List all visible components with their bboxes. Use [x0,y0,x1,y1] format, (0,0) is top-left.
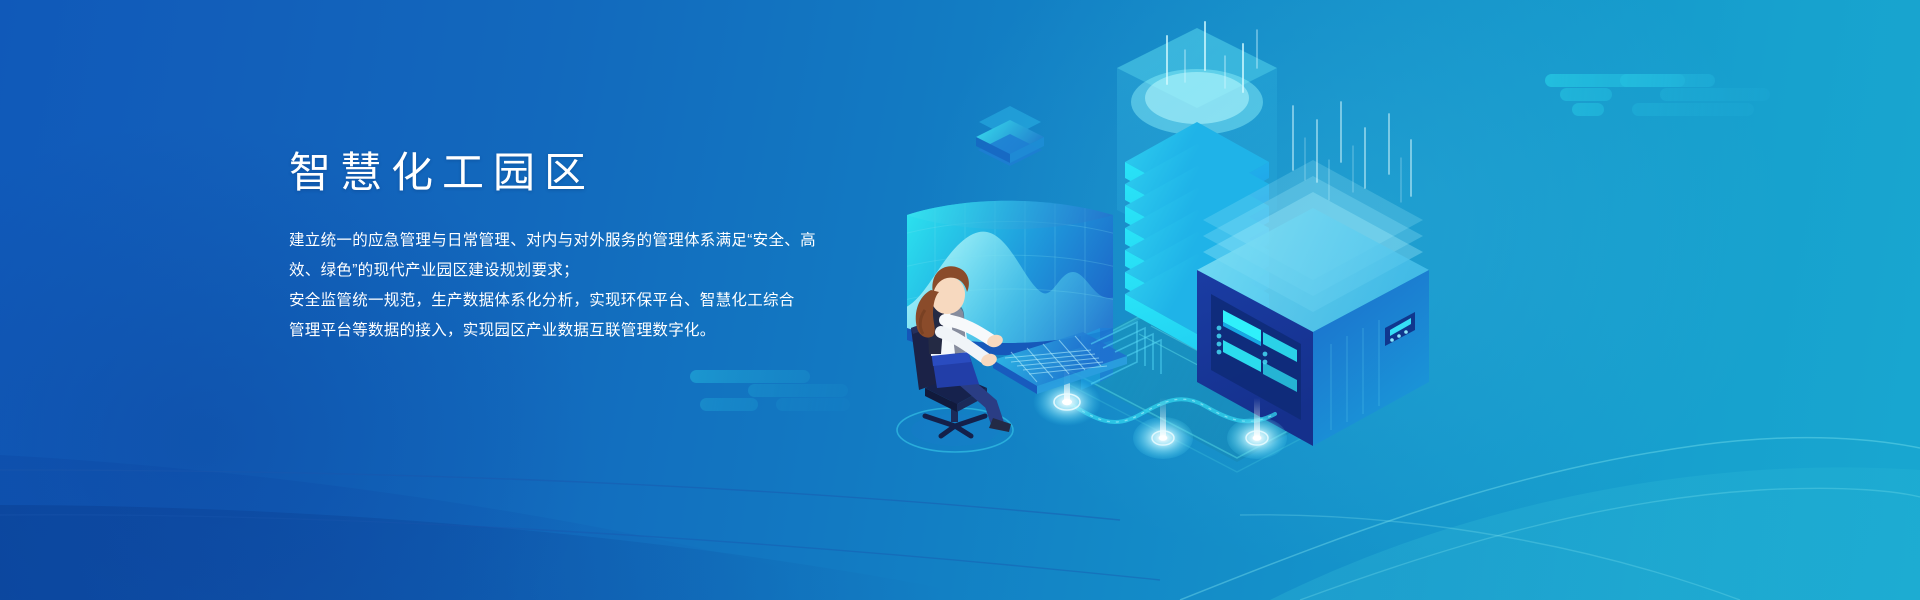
description-line-2: 效、绿色”的现代产业园区建设规划要求； [289,256,909,286]
floating-layer-cubes-icon [976,106,1044,166]
isometric-illustration [845,10,1465,600]
hero-banner: 智慧化工园区 建立统一的应急管理与日常管理、对内与对外服务的管理体系满足“安全、… [0,0,1920,600]
description-line-1: 建立统一的应急管理与日常管理、对内与对外服务的管理体系满足“安全、高 [289,226,909,256]
hero-copy: 智慧化工园区 建立统一的应急管理与日常管理、对内与对外服务的管理体系满足“安全、… [289,146,909,346]
description-line-4: 管理平台等数据的接入，实现园区产业数据互联管理数字化。 [289,316,909,346]
page-title: 智慧化工园区 [289,146,909,200]
description-line-3: 安全监管统一规范，生产数据体系化分析，实现环保平台、智慧化工综合 [289,286,909,316]
hero-description: 建立统一的应急管理与日常管理、对内与对外服务的管理体系满足“安全、高 效、绿色”… [289,226,909,346]
